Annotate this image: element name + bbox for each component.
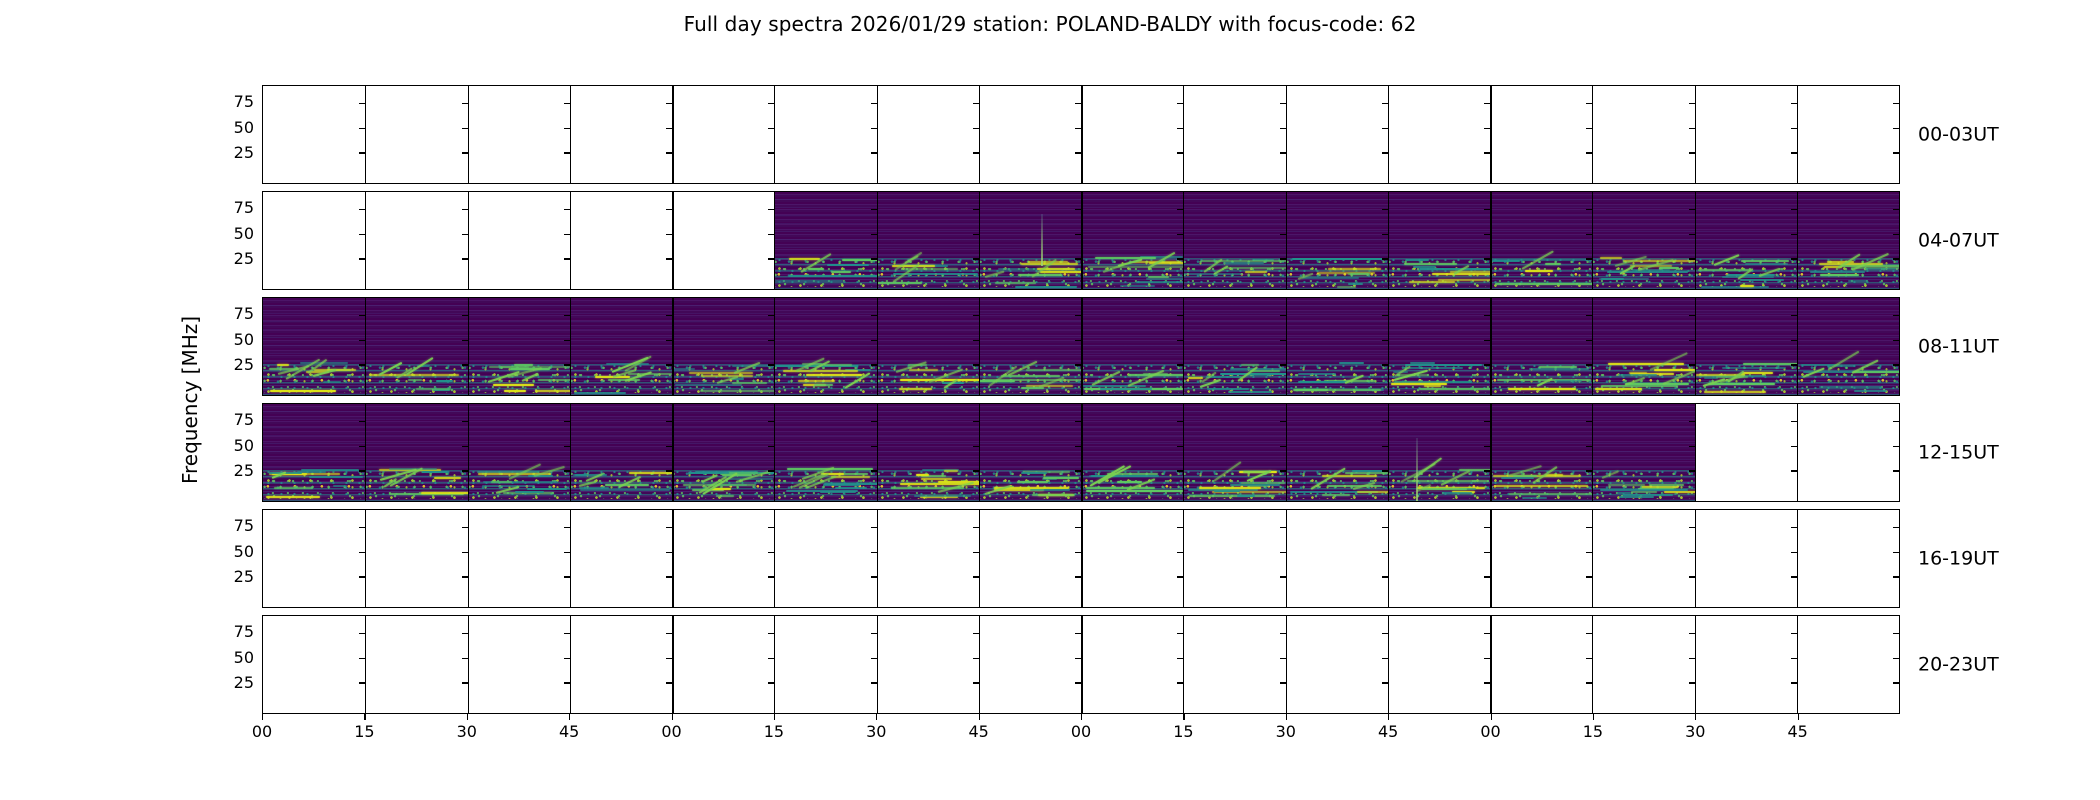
y-tick-mark bbox=[1075, 152, 1081, 153]
y-tick-mark bbox=[1075, 658, 1081, 659]
y-tick-mark bbox=[1075, 103, 1081, 104]
spectra-cell[interactable] bbox=[365, 298, 467, 395]
spectra-cell[interactable] bbox=[979, 404, 1081, 501]
spectra-cell[interactable] bbox=[979, 192, 1081, 289]
spectra-cell[interactable] bbox=[672, 404, 774, 501]
y-tick-mark bbox=[871, 658, 877, 659]
y-tick-mark bbox=[1382, 234, 1388, 235]
spectra-cell[interactable] bbox=[365, 616, 467, 713]
spectrogram-texture bbox=[979, 404, 1081, 501]
y-tick-mark bbox=[1177, 152, 1183, 153]
spectra-cell[interactable] bbox=[1695, 510, 1797, 607]
spectra-cell[interactable] bbox=[1592, 510, 1694, 607]
y-tick-mark bbox=[462, 128, 468, 129]
y-tick-mark bbox=[973, 364, 979, 365]
spectrogram-texture bbox=[1695, 298, 1797, 395]
spectra-cell[interactable] bbox=[570, 404, 672, 501]
y-tick-mark bbox=[1791, 364, 1797, 365]
spectra-cell[interactable] bbox=[1183, 86, 1285, 183]
y-tick-mark bbox=[359, 152, 365, 153]
spectra-cell[interactable] bbox=[672, 86, 774, 183]
x-tick-label: 15 bbox=[1583, 724, 1603, 740]
y-tick-mark bbox=[1689, 470, 1695, 471]
y-tick-mark bbox=[871, 364, 877, 365]
y-tick-mark bbox=[564, 682, 570, 683]
spectra-cell[interactable] bbox=[570, 616, 672, 713]
row-label-04-07ut: 04-07UT bbox=[1918, 231, 1999, 250]
y-tick-mark bbox=[973, 209, 979, 210]
spectra-cell[interactable] bbox=[263, 616, 365, 713]
spectrogram-texture bbox=[979, 192, 1081, 289]
y-tick-mark bbox=[768, 152, 774, 153]
x-tick-mark bbox=[672, 713, 673, 720]
row-label-08-11ut: 08-11UT bbox=[1918, 337, 1999, 356]
y-tick-label: 25 bbox=[208, 675, 254, 691]
spectra-cell[interactable] bbox=[1695, 404, 1797, 501]
y-tick-mark bbox=[564, 470, 570, 471]
spectra-cell[interactable] bbox=[672, 510, 774, 607]
y-tick-mark bbox=[1484, 364, 1490, 365]
y-tick-mark bbox=[1280, 152, 1286, 153]
spectra-cell[interactable] bbox=[1490, 404, 1592, 501]
spectra-cell[interactable] bbox=[365, 510, 467, 607]
y-tick-mark bbox=[1177, 340, 1183, 341]
spectra-cell[interactable] bbox=[1286, 192, 1388, 289]
y-tick-mark bbox=[564, 209, 570, 210]
spectra-cell[interactable] bbox=[1490, 86, 1592, 183]
y-tick-mark bbox=[462, 470, 468, 471]
y-tick-mark bbox=[1689, 340, 1695, 341]
spectra-cell[interactable] bbox=[672, 298, 774, 395]
y-tick-mark bbox=[973, 258, 979, 259]
y-tick-mark bbox=[1586, 658, 1592, 659]
y-tick-mark bbox=[1382, 446, 1388, 447]
spectra-cell[interactable] bbox=[774, 298, 876, 395]
spectra-cell[interactable] bbox=[1388, 86, 1490, 183]
spectrogram-texture bbox=[468, 404, 570, 501]
y-tick-mark bbox=[462, 234, 468, 235]
y-tick-mark bbox=[1689, 209, 1695, 210]
y-tick-mark bbox=[1484, 421, 1490, 422]
x-tick-label: 00 bbox=[661, 724, 681, 740]
y-tick-mark bbox=[1382, 552, 1388, 553]
y-tick-mark bbox=[1893, 258, 1899, 259]
y-tick-mark bbox=[768, 421, 774, 422]
spectra-cell[interactable] bbox=[877, 510, 979, 607]
y-tick-mark bbox=[1791, 103, 1797, 104]
spectra-cell[interactable] bbox=[468, 86, 570, 183]
spectra-cell[interactable] bbox=[1797, 510, 1899, 607]
spectra-cell[interactable] bbox=[1286, 86, 1388, 183]
spectra-cell[interactable] bbox=[877, 192, 979, 289]
spectrogram-texture bbox=[1286, 192, 1388, 289]
y-tick-mark bbox=[1177, 421, 1183, 422]
y-tick-mark bbox=[973, 421, 979, 422]
spectra-cell[interactable] bbox=[1592, 404, 1694, 501]
y-tick-mark bbox=[1791, 315, 1797, 316]
y-tick-mark bbox=[871, 234, 877, 235]
spectra-cell[interactable] bbox=[1490, 510, 1592, 607]
y-tick-mark bbox=[1177, 364, 1183, 365]
spectra-cell[interactable] bbox=[263, 404, 365, 501]
y-tick-label: 75 bbox=[208, 624, 254, 640]
y-tick-mark bbox=[973, 527, 979, 528]
spectra-cell[interactable] bbox=[1592, 86, 1694, 183]
spectra-cell[interactable] bbox=[774, 86, 876, 183]
y-tick-mark bbox=[1177, 315, 1183, 316]
spectra-cell[interactable] bbox=[774, 192, 876, 289]
spectra-cell[interactable] bbox=[263, 86, 365, 183]
y-tick-mark bbox=[1689, 576, 1695, 577]
row-axes-20-23ut[interactable] bbox=[262, 615, 1900, 714]
spectra-cell[interactable] bbox=[979, 298, 1081, 395]
y-tick-mark bbox=[359, 682, 365, 683]
y-tick-mark bbox=[1791, 552, 1797, 553]
spectrogram-texture bbox=[1388, 192, 1490, 289]
y-tick-mark bbox=[1280, 446, 1286, 447]
y-tick-mark bbox=[1893, 658, 1899, 659]
y-tick-mark bbox=[973, 315, 979, 316]
row-axes-16-19ut[interactable] bbox=[262, 509, 1900, 608]
spectra-cell[interactable] bbox=[877, 404, 979, 501]
spectrogram-texture bbox=[1592, 298, 1694, 395]
y-tick-mark bbox=[1177, 576, 1183, 577]
spectrogram-texture bbox=[877, 192, 979, 289]
y-tick-mark bbox=[462, 527, 468, 528]
y-tick-mark bbox=[1177, 470, 1183, 471]
spectra-cell[interactable] bbox=[365, 404, 467, 501]
y-tick-label: 50 bbox=[208, 120, 254, 136]
x-tick-label: 45 bbox=[968, 724, 988, 740]
y-tick-mark bbox=[1280, 633, 1286, 634]
y-tick-mark bbox=[1893, 446, 1899, 447]
y-tick-label: 25 bbox=[208, 357, 254, 373]
y-tick-mark bbox=[1280, 234, 1286, 235]
y-tick-mark bbox=[1893, 152, 1899, 153]
y-tick-mark bbox=[871, 446, 877, 447]
spectra-cell[interactable] bbox=[672, 616, 774, 713]
y-tick-mark bbox=[666, 576, 672, 577]
y-tick-mark bbox=[1586, 421, 1592, 422]
spectrogram-texture bbox=[774, 298, 876, 395]
spectra-cell[interactable] bbox=[468, 404, 570, 501]
spectra-cell[interactable] bbox=[1388, 510, 1490, 607]
spectrogram-texture bbox=[365, 404, 467, 501]
y-tick-mark bbox=[1893, 552, 1899, 553]
spectra-cell[interactable] bbox=[1081, 510, 1183, 607]
spectra-cell[interactable] bbox=[1797, 404, 1899, 501]
y-tick-mark bbox=[1382, 364, 1388, 365]
y-tick-mark bbox=[1177, 527, 1183, 528]
y-tick-mark bbox=[1177, 258, 1183, 259]
spectra-cell[interactable] bbox=[1183, 192, 1285, 289]
spectrogram-texture bbox=[672, 298, 774, 395]
y-tick-mark bbox=[359, 315, 365, 316]
spectra-cell[interactable] bbox=[468, 510, 570, 607]
spectra-cell[interactable] bbox=[1592, 298, 1694, 395]
spectrogram-texture bbox=[1388, 298, 1490, 395]
y-tick-mark bbox=[1382, 103, 1388, 104]
row-axes-12-15ut[interactable] bbox=[262, 403, 1900, 502]
y-tick-mark bbox=[1689, 103, 1695, 104]
y-tick-mark bbox=[462, 315, 468, 316]
spectra-cell[interactable] bbox=[1286, 298, 1388, 395]
y-tick-mark bbox=[1075, 421, 1081, 422]
y-tick-label: 50 bbox=[208, 438, 254, 454]
y-tick-mark bbox=[359, 576, 365, 577]
row-axes-00-03ut[interactable] bbox=[262, 85, 1900, 184]
spectra-cell[interactable] bbox=[979, 616, 1081, 713]
y-tick-mark bbox=[1893, 128, 1899, 129]
spectra-cell[interactable] bbox=[774, 510, 876, 607]
spectra-cell[interactable] bbox=[1081, 192, 1183, 289]
y-tick-mark bbox=[462, 658, 468, 659]
x-tick-label: 45 bbox=[1787, 724, 1807, 740]
y-tick-mark bbox=[1075, 364, 1081, 365]
spectra-cell[interactable] bbox=[1081, 86, 1183, 183]
y-tick-mark bbox=[1382, 128, 1388, 129]
y-tick-mark bbox=[1586, 258, 1592, 259]
y-tick-mark bbox=[1893, 209, 1899, 210]
y-tick-mark bbox=[1586, 527, 1592, 528]
spectrogram-texture bbox=[263, 404, 365, 501]
spectra-cell[interactable] bbox=[1183, 616, 1285, 713]
y-tick-mark bbox=[871, 128, 877, 129]
spectrogram-texture bbox=[1490, 298, 1592, 395]
spectra-cell[interactable] bbox=[468, 192, 570, 289]
y-tick-mark bbox=[768, 209, 774, 210]
spectra-cell[interactable] bbox=[365, 192, 467, 289]
y-tick-mark bbox=[1689, 364, 1695, 365]
spectrogram-texture bbox=[1081, 298, 1183, 395]
y-tick-mark bbox=[1586, 552, 1592, 553]
y-tick-mark bbox=[1689, 552, 1695, 553]
spectra-cell[interactable] bbox=[1081, 404, 1183, 501]
y-tick-mark bbox=[768, 103, 774, 104]
y-tick-mark bbox=[871, 209, 877, 210]
y-tick-label: 75 bbox=[208, 412, 254, 428]
y-tick-mark bbox=[1177, 128, 1183, 129]
spectra-cell[interactable] bbox=[979, 510, 1081, 607]
y-tick-mark bbox=[1791, 576, 1797, 577]
y-tick-mark bbox=[462, 209, 468, 210]
spectra-cell[interactable] bbox=[1081, 616, 1183, 713]
spectra-cell[interactable] bbox=[1695, 86, 1797, 183]
spectra-cell[interactable] bbox=[877, 616, 979, 713]
y-tick-label: 50 bbox=[208, 226, 254, 242]
spectra-cell[interactable] bbox=[1695, 616, 1797, 713]
y-tick-mark bbox=[1484, 234, 1490, 235]
y-tick-mark bbox=[768, 128, 774, 129]
spectra-cell[interactable] bbox=[877, 298, 979, 395]
x-tick-label: 45 bbox=[559, 724, 579, 740]
y-tick-mark bbox=[1382, 658, 1388, 659]
spectra-cell[interactable] bbox=[1183, 298, 1285, 395]
spectra-cell[interactable] bbox=[1592, 192, 1694, 289]
spectra-cell[interactable] bbox=[570, 298, 672, 395]
y-tick-mark bbox=[1484, 103, 1490, 104]
y-tick-label: 25 bbox=[208, 145, 254, 161]
spectra-cell[interactable] bbox=[774, 404, 876, 501]
y-tick-mark bbox=[1791, 633, 1797, 634]
y-tick-label: 25 bbox=[208, 463, 254, 479]
y-tick-mark bbox=[1893, 103, 1899, 104]
y-tick-mark bbox=[1280, 658, 1286, 659]
y-tick-mark bbox=[871, 315, 877, 316]
spectra-cell[interactable] bbox=[1797, 192, 1899, 289]
y-tick-mark bbox=[973, 633, 979, 634]
spectra-cell[interactable] bbox=[1286, 616, 1388, 713]
spectra-cell[interactable] bbox=[1183, 510, 1285, 607]
spectra-cell[interactable] bbox=[774, 616, 876, 713]
x-tick-mark bbox=[979, 713, 980, 720]
spectra-cell[interactable] bbox=[570, 510, 672, 607]
x-tick-mark bbox=[1081, 713, 1082, 720]
x-tick-label: 30 bbox=[866, 724, 886, 740]
y-tick-mark bbox=[1075, 209, 1081, 210]
y-tick-mark bbox=[973, 552, 979, 553]
spectra-cell[interactable] bbox=[1490, 192, 1592, 289]
spectra-cell[interactable] bbox=[263, 192, 365, 289]
y-tick-mark bbox=[462, 340, 468, 341]
y-tick-mark bbox=[462, 576, 468, 577]
y-tick-mark bbox=[462, 446, 468, 447]
spectrogram-texture bbox=[1797, 192, 1899, 289]
y-tick-mark bbox=[564, 421, 570, 422]
y-tick-mark bbox=[768, 527, 774, 528]
y-tick-mark bbox=[871, 576, 877, 577]
row-axes-04-07ut[interactable] bbox=[262, 191, 1900, 290]
y-tick-mark bbox=[1382, 315, 1388, 316]
spectrogram-texture bbox=[1183, 192, 1285, 289]
y-tick-mark bbox=[1484, 446, 1490, 447]
y-tick-mark bbox=[1280, 315, 1286, 316]
y-tick-mark bbox=[1791, 470, 1797, 471]
y-tick-mark bbox=[1280, 128, 1286, 129]
spectra-cell[interactable] bbox=[1286, 404, 1388, 501]
spectrogram-texture bbox=[570, 404, 672, 501]
spectra-cell[interactable] bbox=[1081, 298, 1183, 395]
y-tick-mark bbox=[768, 364, 774, 365]
spectrogram-texture bbox=[1490, 404, 1592, 501]
y-tick-mark bbox=[1075, 128, 1081, 129]
spectra-cell[interactable] bbox=[1286, 510, 1388, 607]
y-axis-label: Frequency [MHz] bbox=[178, 316, 202, 484]
spectrogram-texture bbox=[468, 298, 570, 395]
y-tick-mark bbox=[1075, 315, 1081, 316]
spectra-cell[interactable] bbox=[1490, 298, 1592, 395]
spectra-cell[interactable] bbox=[1388, 298, 1490, 395]
y-tick-mark bbox=[564, 446, 570, 447]
y-tick-mark bbox=[1075, 340, 1081, 341]
y-tick-mark bbox=[1791, 446, 1797, 447]
spectra-cell[interactable] bbox=[468, 298, 570, 395]
y-tick-mark bbox=[462, 364, 468, 365]
y-tick-mark bbox=[1893, 234, 1899, 235]
y-tick-label: 25 bbox=[208, 251, 254, 267]
spectra-cell[interactable] bbox=[1592, 616, 1694, 713]
y-tick-mark bbox=[1586, 128, 1592, 129]
y-tick-mark bbox=[359, 446, 365, 447]
spectra-cell[interactable] bbox=[570, 86, 672, 183]
y-tick-mark bbox=[1586, 152, 1592, 153]
spectra-cell[interactable] bbox=[1388, 404, 1490, 501]
y-tick-mark bbox=[1791, 234, 1797, 235]
y-tick-mark bbox=[1484, 315, 1490, 316]
y-tick-mark bbox=[1177, 633, 1183, 634]
x-tick-label: 00 bbox=[1071, 724, 1091, 740]
y-tick-mark bbox=[1893, 527, 1899, 528]
spectra-cell[interactable] bbox=[1797, 86, 1899, 183]
y-tick-mark bbox=[1280, 527, 1286, 528]
y-tick-mark bbox=[1280, 364, 1286, 365]
spectra-figure: Full day spectra 2026/01/29 station: POL… bbox=[0, 0, 2100, 800]
y-tick-mark bbox=[1791, 128, 1797, 129]
y-tick-mark bbox=[1893, 682, 1899, 683]
y-tick-mark bbox=[1484, 152, 1490, 153]
y-tick-mark bbox=[1484, 658, 1490, 659]
y-tick-mark bbox=[1689, 633, 1695, 634]
spectra-cell[interactable] bbox=[468, 616, 570, 713]
spectra-cell[interactable] bbox=[1695, 192, 1797, 289]
y-tick-mark bbox=[1075, 682, 1081, 683]
spectra-cell[interactable] bbox=[1797, 616, 1899, 713]
y-tick-mark bbox=[564, 258, 570, 259]
y-tick-mark bbox=[973, 682, 979, 683]
y-tick-mark bbox=[1075, 552, 1081, 553]
y-tick-mark bbox=[1791, 682, 1797, 683]
spectra-cell[interactable] bbox=[263, 298, 365, 395]
spectra-cell[interactable] bbox=[979, 86, 1081, 183]
y-tick-mark bbox=[666, 421, 672, 422]
y-tick-mark bbox=[1382, 209, 1388, 210]
y-tick-mark bbox=[1586, 446, 1592, 447]
row-axes-08-11ut[interactable] bbox=[262, 297, 1900, 396]
spectra-cell[interactable] bbox=[263, 510, 365, 607]
spectra-cell[interactable] bbox=[1183, 404, 1285, 501]
y-tick-mark bbox=[1586, 682, 1592, 683]
spectra-cell[interactable] bbox=[1797, 298, 1899, 395]
y-tick-mark bbox=[871, 552, 877, 553]
spectra-cell[interactable] bbox=[1490, 616, 1592, 713]
y-tick-mark bbox=[871, 421, 877, 422]
spectra-cell[interactable] bbox=[1695, 298, 1797, 395]
spectra-cell[interactable] bbox=[1388, 192, 1490, 289]
y-tick-mark bbox=[1689, 258, 1695, 259]
spectrogram-texture bbox=[1286, 404, 1388, 501]
spectra-cell[interactable] bbox=[365, 86, 467, 183]
y-tick-mark bbox=[1791, 152, 1797, 153]
spectrogram-texture bbox=[1081, 404, 1183, 501]
y-tick-mark bbox=[768, 576, 774, 577]
y-tick-mark bbox=[359, 421, 365, 422]
y-tick-mark bbox=[1382, 340, 1388, 341]
spectra-cell[interactable] bbox=[672, 192, 774, 289]
spectrogram-texture bbox=[774, 404, 876, 501]
spectra-cell[interactable] bbox=[877, 86, 979, 183]
x-tick-mark bbox=[1798, 713, 1799, 720]
y-tick-mark bbox=[1893, 315, 1899, 316]
y-tick-mark bbox=[1177, 209, 1183, 210]
y-tick-mark bbox=[666, 682, 672, 683]
spectra-cell[interactable] bbox=[570, 192, 672, 289]
y-tick-mark bbox=[564, 152, 570, 153]
spectra-cell[interactable] bbox=[1388, 616, 1490, 713]
x-tick-label: 30 bbox=[1685, 724, 1705, 740]
row-label-20-23ut: 20-23UT bbox=[1918, 655, 1999, 674]
y-tick-mark bbox=[666, 209, 672, 210]
x-tick-mark bbox=[364, 713, 365, 720]
